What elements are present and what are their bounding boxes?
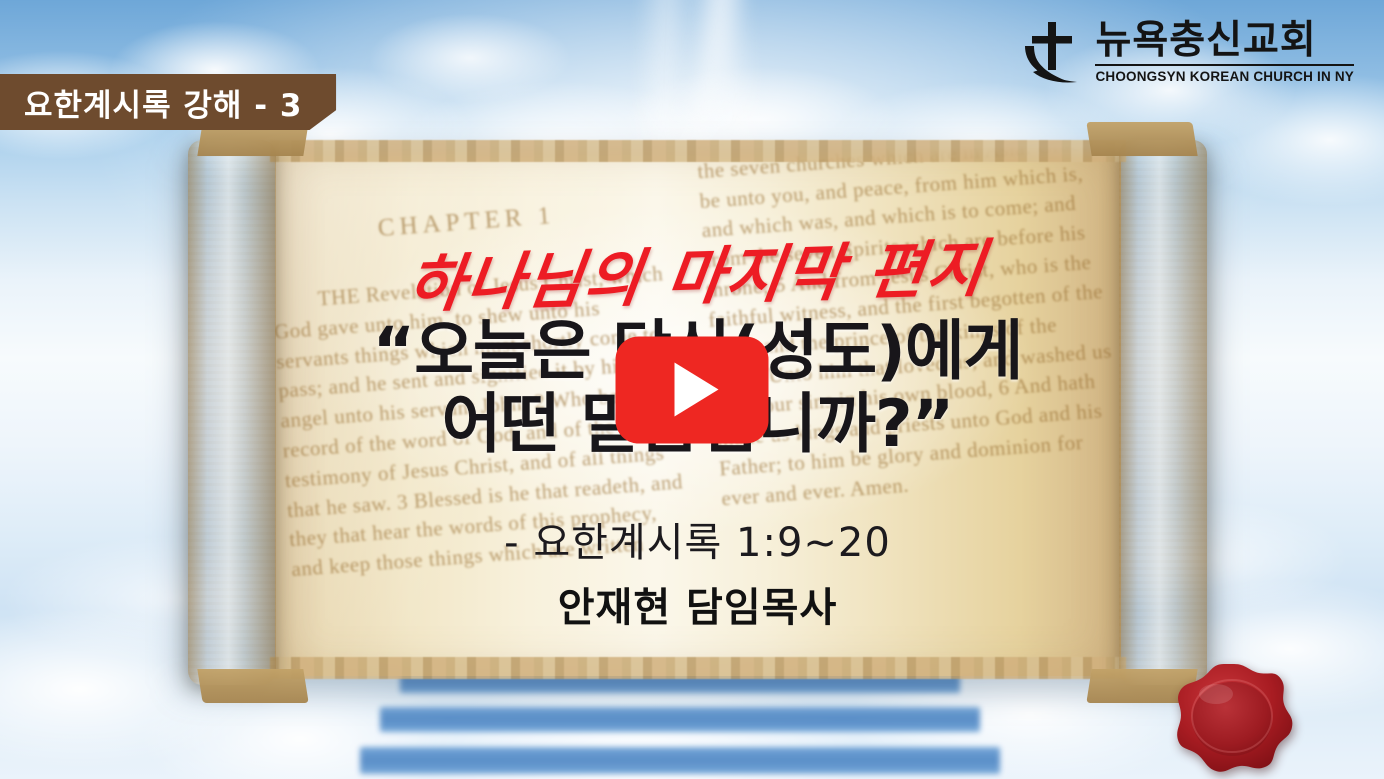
- church-name-korean: 뉴욕충신교회: [1095, 21, 1354, 60]
- play-triangle-icon: [674, 363, 718, 417]
- church-name-english: CHOONGSYN KOREAN CHURCH IN NY: [1095, 69, 1354, 84]
- logo-divider: [1095, 64, 1354, 66]
- scroll-roll-left: [188, 140, 276, 685]
- series-banner: 요한계시록 강해 - 3: [0, 74, 336, 130]
- scroll-flap-right-top: [1086, 122, 1197, 156]
- scroll-roll-right: [1119, 140, 1207, 685]
- parchment-torn-edge-top: [270, 140, 1126, 162]
- scroll-roll-right-shading: [1119, 140, 1207, 685]
- wax-seal-icon: [1170, 660, 1298, 779]
- scroll-flap-left-bottom: [197, 669, 308, 703]
- youtube-play-button[interactable]: [616, 336, 769, 443]
- parchment-torn-edge-bottom: [270, 657, 1126, 679]
- cross-and-wave-icon: [1023, 18, 1085, 84]
- series-banner-label: 요한계시록 강해 - 3: [24, 80, 302, 125]
- parchment-printed-heading: CHAPTER 1: [275, 189, 667, 254]
- church-logo-text: 뉴욕충신교회 CHOONGSYN KOREAN CHURCH IN NY: [1095, 21, 1354, 84]
- video-thumbnail: CHAPTER 1 THE Revelation of Jesus Christ…: [0, 0, 1384, 779]
- scroll-roll-left-shading: [188, 140, 276, 685]
- church-logo: 뉴욕충신교회 CHOONGSYN KOREAN CHURCH IN NY: [1023, 18, 1354, 84]
